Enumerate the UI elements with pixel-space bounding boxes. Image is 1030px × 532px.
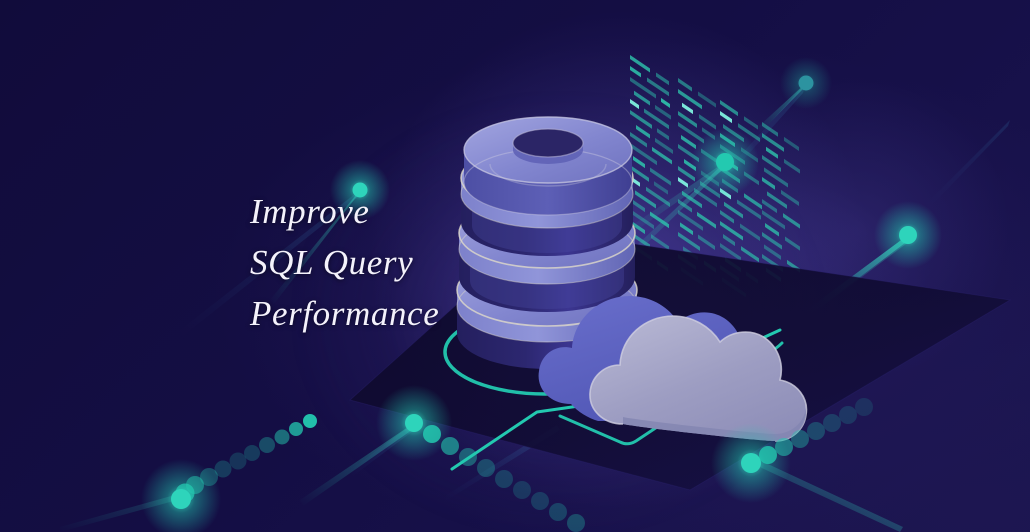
node-top-right <box>780 57 832 109</box>
node-right-mid <box>874 201 942 269</box>
node-left-upper <box>330 160 390 220</box>
node-code-center <box>691 128 759 196</box>
illustration-banner: Improve SQL Query Performance <box>0 0 1030 532</box>
scene-vector <box>0 0 1030 532</box>
dot-chain-bottom-left <box>141 414 317 532</box>
